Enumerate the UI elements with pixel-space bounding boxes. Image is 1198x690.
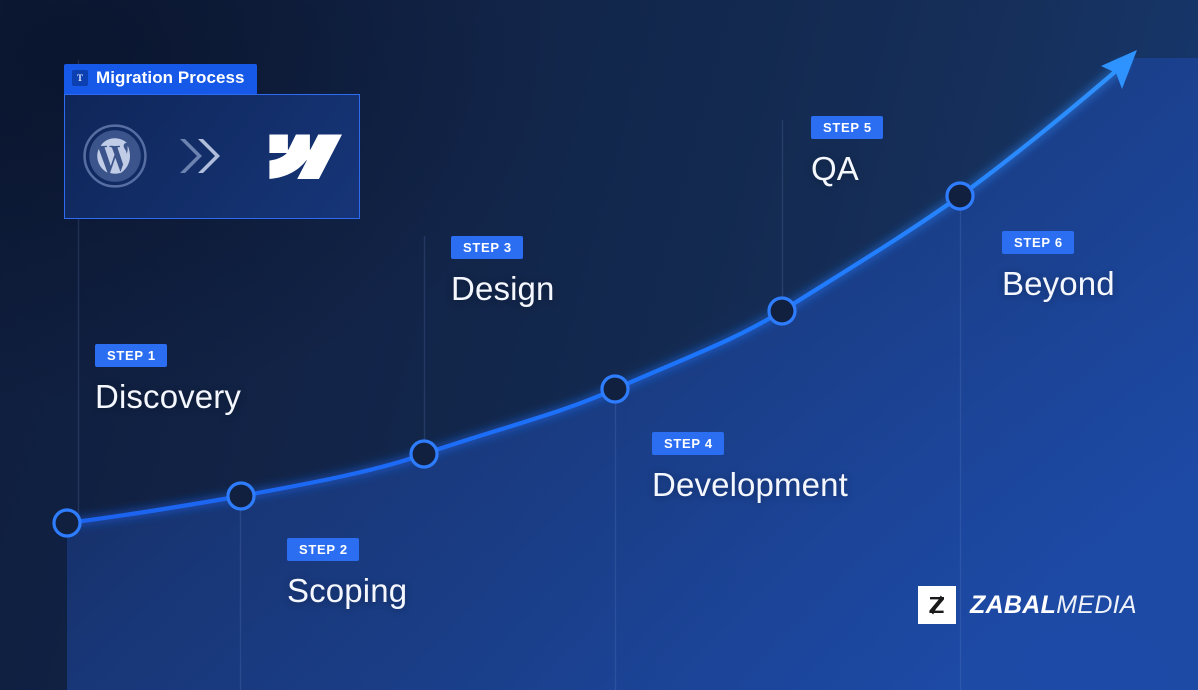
step-title-6: Beyond [1002, 267, 1115, 300]
zabal-media-logo[interactable]: ZABALMEDIA [918, 586, 1137, 624]
zabal-media-wordmark: ZABALMEDIA [970, 593, 1137, 618]
node-step-5[interactable] [769, 298, 795, 324]
brand-name-bold: ZABAL [970, 591, 1056, 619]
card-body [64, 94, 360, 219]
step-badge-6: STEP 6 [1002, 231, 1074, 254]
webflow-logo [256, 130, 342, 182]
step-title-3: Design [451, 272, 555, 305]
migration-process-infographic: STEP 1 Discovery STEP 2 Scoping STEP 3 D… [0, 0, 1198, 690]
brand-name-light: MEDIA [1056, 591, 1137, 619]
step-label-1[interactable]: STEP 1 Discovery [95, 344, 241, 413]
text-tool-icon: T [72, 70, 88, 86]
node-step-2[interactable] [228, 483, 254, 509]
step-badge-3: STEP 3 [451, 236, 523, 259]
step-badge-1: STEP 1 [95, 344, 167, 367]
step-label-6[interactable]: STEP 6 Beyond [1002, 231, 1115, 300]
double-chevron-right-icon [176, 134, 228, 178]
step-title-5: QA [811, 152, 883, 185]
step-title-2: Scoping [287, 574, 407, 607]
z-monogram-icon [925, 593, 949, 617]
step-label-3[interactable]: STEP 3 Design [451, 236, 555, 305]
step-label-2[interactable]: STEP 2 Scoping [287, 538, 407, 607]
step-badge-4: STEP 4 [652, 432, 724, 455]
card-selection-label[interactable]: T Migration Process [64, 64, 257, 94]
card-label-text: Migration Process [96, 69, 245, 88]
step-label-4[interactable]: STEP 4 Development [652, 432, 848, 501]
step-badge-5: STEP 5 [811, 116, 883, 139]
step-label-5[interactable]: STEP 5 QA [811, 116, 883, 185]
node-step-1[interactable] [54, 510, 80, 536]
node-step-4[interactable] [602, 376, 628, 402]
step-badge-2: STEP 2 [287, 538, 359, 561]
step-title-1: Discovery [95, 380, 241, 413]
node-step-6[interactable] [947, 183, 973, 209]
migration-process-card[interactable]: T Migration Process [64, 64, 360, 219]
zabal-logo-mark [918, 586, 956, 624]
node-step-3[interactable] [411, 441, 437, 467]
wordpress-logo [82, 123, 148, 189]
step-title-4: Development [652, 468, 848, 501]
